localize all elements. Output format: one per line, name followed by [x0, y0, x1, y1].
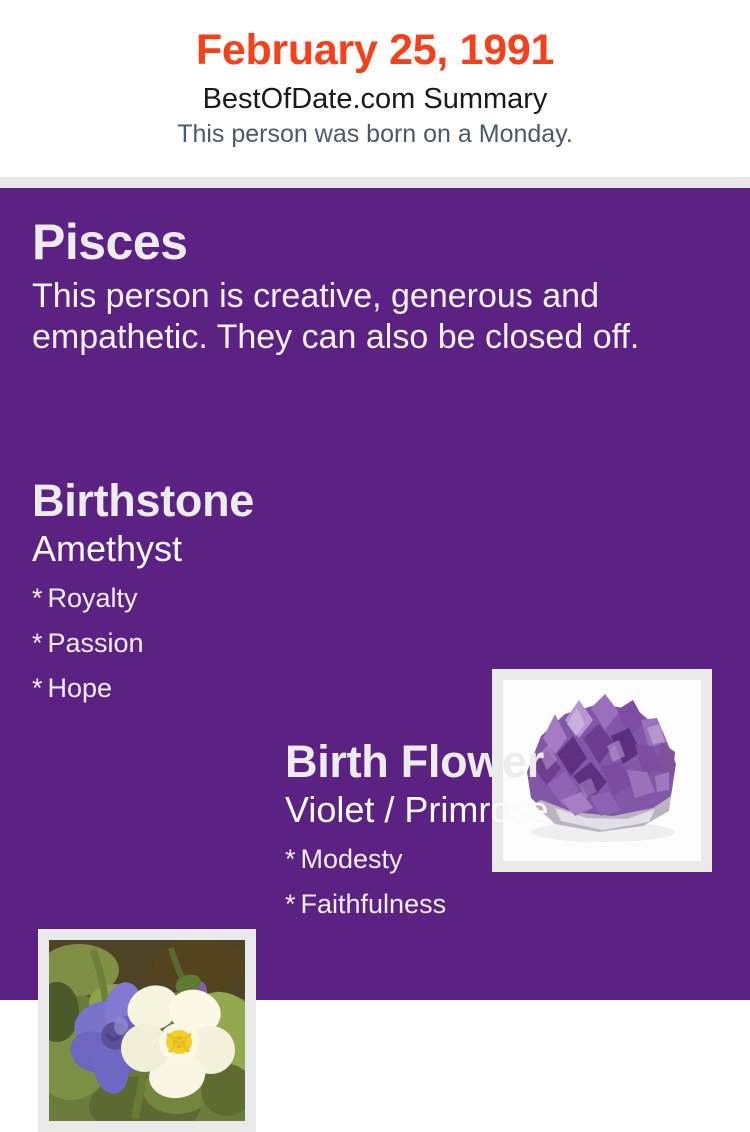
birth-flower-heading: Birth Flower	[285, 736, 735, 788]
birthstone-heading: Birthstone	[32, 475, 462, 527]
bullet-star-icon: *	[32, 583, 48, 613]
zodiac-description: This person is creative, generous and em…	[32, 270, 700, 358]
zodiac-section: Pisces This person is creative, generous…	[32, 214, 722, 358]
violet-primrose-icon	[49, 940, 245, 1121]
header-divider	[0, 177, 750, 188]
trait-label: Faithfulness	[301, 889, 447, 919]
bullet-star-icon: *	[285, 844, 301, 874]
birth-flower-trait-list: *Modesty *Faithfulness	[285, 831, 735, 927]
list-item: *Passion	[32, 621, 462, 666]
violet-primrose-photo	[49, 940, 245, 1121]
card-header: February 25, 1991 BestOfDate.com Summary…	[0, 0, 750, 177]
trait-label: Royalty	[48, 583, 138, 613]
birth-flower-name: Violet / Primrose	[285, 788, 735, 831]
content-panel: Pisces This person is creative, generous…	[0, 188, 750, 1000]
birthstone-name: Amethyst	[32, 527, 462, 570]
list-item: *Hope	[32, 666, 462, 711]
birth-flower-section: Birth Flower Violet / Primrose *Modesty …	[285, 736, 735, 927]
birth-day-note: This person was born on a Monday.	[0, 116, 750, 149]
trait-label: Modesty	[301, 844, 403, 874]
list-item: *Modesty	[285, 837, 735, 882]
bullet-star-icon: *	[32, 673, 48, 703]
birthstone-section: Birthstone Amethyst *Royalty *Passion *H…	[32, 475, 462, 711]
zodiac-sign-title: Pisces	[32, 214, 722, 270]
flower-image-frame	[38, 929, 256, 1132]
bullet-star-icon: *	[285, 889, 301, 919]
birthstone-trait-list: *Royalty *Passion *Hope	[32, 570, 462, 711]
birthday-summary-card: February 25, 1991 BestOfDate.com Summary…	[0, 0, 750, 1000]
trait-label: Passion	[48, 628, 144, 658]
page-title: February 25, 1991	[0, 0, 750, 76]
list-item: *Royalty	[32, 576, 462, 621]
site-summary-label: BestOfDate.com Summary	[0, 76, 750, 116]
bullet-star-icon: *	[32, 628, 48, 658]
trait-label: Hope	[48, 673, 113, 703]
list-item: *Faithfulness	[285, 882, 735, 927]
